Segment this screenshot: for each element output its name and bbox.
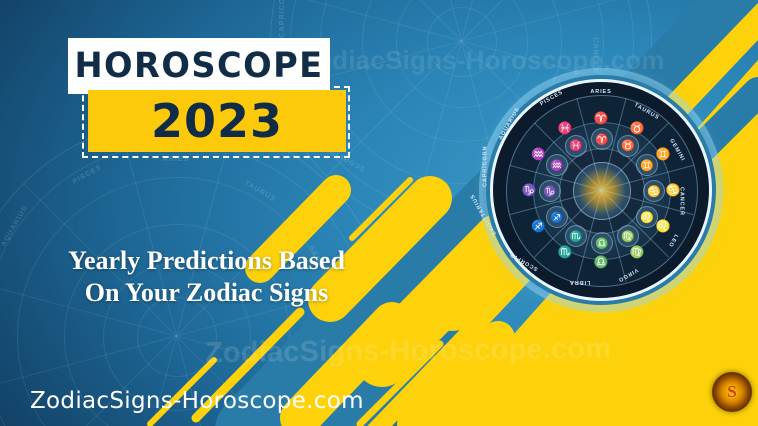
- title-lockup: HOROSCOPE 2023: [60, 38, 350, 158]
- zodiac-sign-symbol-inner: ♓: [565, 135, 587, 157]
- zodiac-sign-symbol-inner: ♒: [546, 154, 568, 176]
- zodiac-sign-symbol-outer: ♐: [530, 217, 548, 235]
- background-wheel-divider: [412, 0, 462, 41]
- zodiac-sign-symbol-inner: ♈: [591, 128, 613, 150]
- zodiac-wheel: ARIES♈♈TAURUS♉♉GEMINI♊♊CANCER♋♋LEO♌♌VIRG…: [493, 82, 709, 298]
- background-wheel-ring: [137, 297, 216, 376]
- background-wheel-sign-label: CANCER: [327, 333, 334, 370]
- zodiac-sign-symbol-outer: ♑: [520, 181, 538, 199]
- zodiac-sign-symbol-inner: ♑: [539, 180, 561, 202]
- subtitle: Yearly Predictions Based On Your Zodiac …: [34, 245, 379, 309]
- subtitle-line-2: On Your Zodiac Signs: [34, 277, 379, 309]
- zodiac-sign-symbol-inner: ♎: [591, 232, 613, 254]
- background-wheel-sign-label: TAURUS: [243, 180, 277, 204]
- sun-logo-letter: S: [727, 382, 736, 402]
- zodiac-sign-symbol-outer: ♋: [664, 181, 682, 199]
- site-url[interactable]: ZodiacSigns-Horoscope.com: [30, 388, 364, 414]
- zodiac-sign-symbol-inner: ♋: [643, 180, 665, 202]
- background-wheel-ring: [427, 7, 497, 77]
- sun-logo-icon[interactable]: S: [712, 372, 752, 412]
- background-wheel-sign-label: CAPRICORN: [279, 0, 286, 38]
- zodiac-sign-label: LIBRA: [569, 279, 590, 285]
- background-wheel-divider: [176, 336, 384, 393]
- subtitle-line-1: Yearly Predictions Based: [34, 245, 379, 277]
- zodiac-sign-symbol-inner: ♌: [636, 206, 658, 228]
- background-wheel-sign-label: LIBRA: [421, 186, 448, 193]
- background-wheel-ring: [396, 0, 527, 108]
- year-label: 2023: [88, 90, 346, 152]
- zodiac-sign-symbol-outer: ♉: [628, 119, 646, 137]
- background-wheel-sign-label: AQUARIUS: [0, 204, 29, 247]
- zodiac-sign-symbol-outer: ♓: [556, 119, 574, 137]
- zodiac-sign-symbol-outer: ♈: [592, 109, 610, 127]
- zodiac-sign-symbol-outer: ♒: [530, 145, 548, 163]
- horoscope-banner: ARIESTAURUSGEMINICANCERLEOVIRGOLIBRASCOR…: [0, 0, 758, 426]
- zodiac-sign-symbol-inner: ♍: [617, 225, 639, 247]
- zodiac-sign-label: CAPRICORN: [482, 146, 488, 187]
- background-wheel-sign-label: LEO: [305, 417, 320, 426]
- zodiac-sign-symbol-inner: ♊: [636, 154, 658, 176]
- background-wheel-divider: [412, 41, 462, 225]
- zodiac-sign-label: ARIES: [590, 89, 611, 95]
- background-wheel-sign-label: PISCES: [72, 164, 103, 186]
- zodiac-sign-symbol-inner: ♏: [565, 225, 587, 247]
- background-wheel-divider: [0, 336, 177, 393]
- zodiac-sign-symbol-outer: ♎: [592, 253, 610, 271]
- background-wheel-divider: [461, 0, 511, 41]
- background-wheel-divider: [461, 0, 596, 41]
- background-wheel-divider: [278, 0, 462, 41]
- background-wheel-divider: [327, 0, 462, 41]
- background-wheel-divider: [461, 0, 645, 41]
- watermark-text: ZodiacSigns-Horoscope.com: [205, 333, 612, 370]
- year-yellow-bar: 2023: [88, 90, 346, 152]
- page-title: HOROSCOPE: [73, 38, 325, 94]
- zodiac-sign-symbol-inner: ♐: [546, 206, 568, 228]
- title-white-bar: HOROSCOPE: [68, 38, 330, 94]
